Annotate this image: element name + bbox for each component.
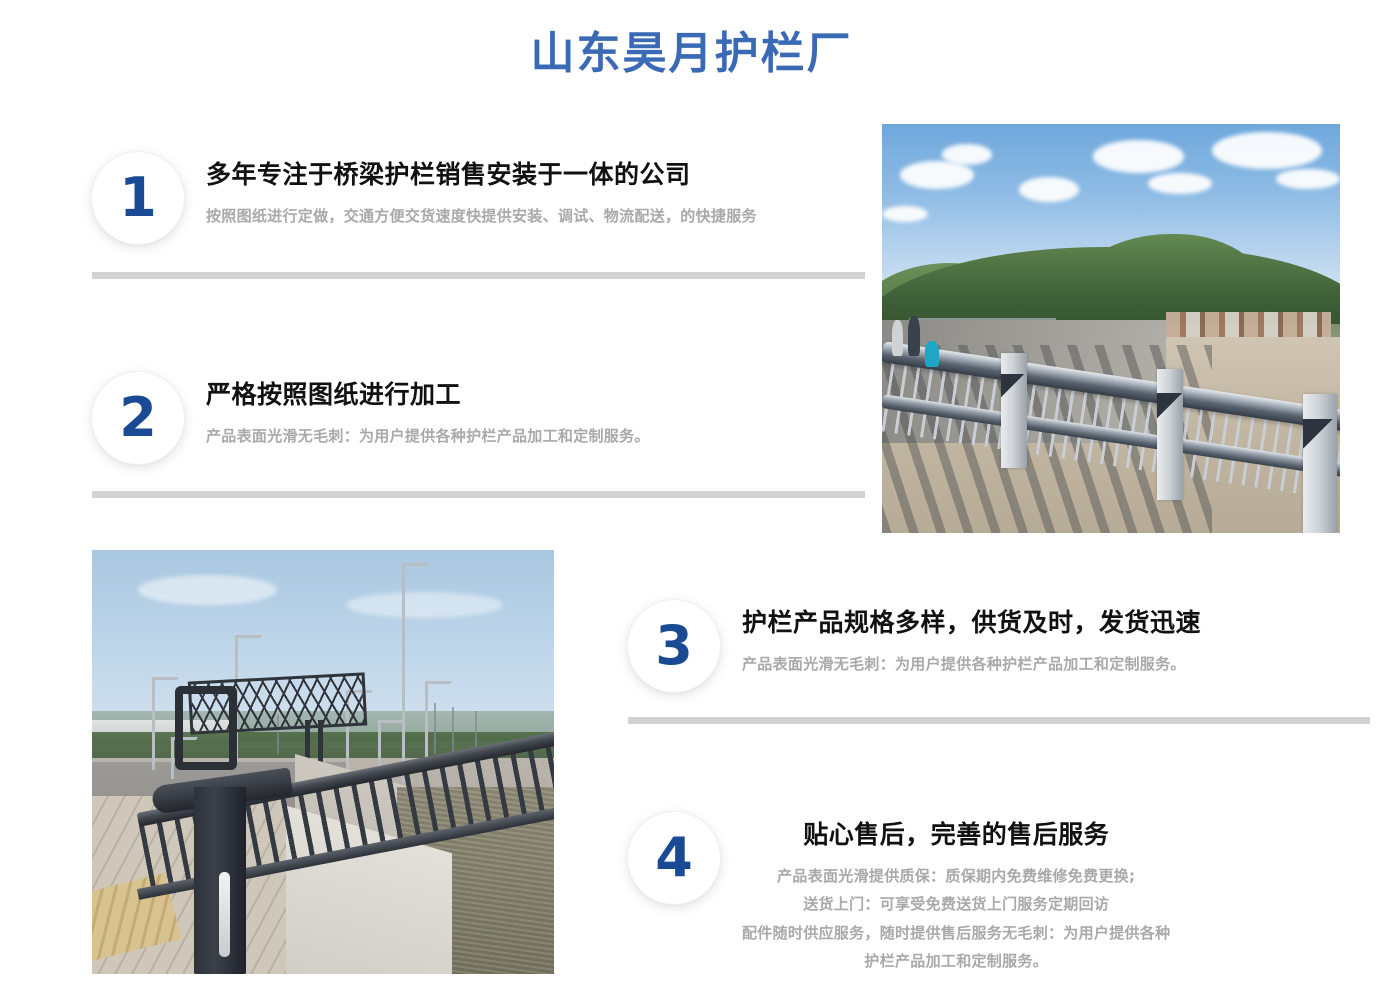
- feature-subtext-4-line-3: 配件随时供应服务，随时提供售后服务无毛刺：为用户提供各种: [742, 919, 1170, 948]
- feature-item-2: 2 严格按照图纸进行加工 产品表面光滑无毛刺：为用户提供各种护栏产品加工和定制服…: [92, 372, 650, 464]
- feature-number-2: 2: [119, 391, 157, 445]
- feature-text-1: 多年专注于桥梁护栏销售安装于一体的公司 按照图纸进行定做，交通方便交货速度快提供…: [206, 152, 757, 230]
- bridge-guardrail-river-photo: [882, 124, 1340, 533]
- feature-heading-4: 贴心售后，完善的售后服务: [742, 818, 1170, 852]
- photo1-worker: [892, 320, 903, 356]
- feature-heading-2: 严格按照图纸进行加工: [206, 378, 650, 412]
- photo1-railing-post: [1001, 353, 1027, 468]
- feature-heading-1: 多年专注于桥梁护栏销售安装于一体的公司: [206, 158, 757, 192]
- feature-text-3: 护栏产品规格多样，供货及时，发货迅速 产品表面光滑无毛刺：为用户提供各种护栏产品…: [742, 600, 1201, 678]
- feature-subtext-1-line-1: 按照图纸进行定做，交通方便交货速度快提供安装、调试、物流配送，的快捷服务: [206, 202, 757, 231]
- feature-subtext-4-line-4: 护栏产品加工和定制服务。: [742, 947, 1170, 976]
- photo2-cloud: [346, 592, 503, 617]
- photo2-post-reflector: [219, 872, 230, 957]
- feature-divider-1: [92, 272, 865, 279]
- feature-number-1: 1: [119, 171, 157, 225]
- feature-subtext-4-line-1: 产品表面光滑提供质保：质保期内免费维修免费更换;: [742, 862, 1170, 891]
- photo2-cloud: [138, 575, 277, 605]
- dark-guardrail-canal-photo: [92, 550, 554, 974]
- feature-number-3: 3: [655, 619, 693, 673]
- feature-number-badge-3: 3: [628, 600, 720, 692]
- feature-subtext-2-line-1: 产品表面光滑无毛刺：为用户提供各种护栏产品加工和定制服务。: [206, 422, 650, 451]
- photo2-power-pylon: [452, 707, 454, 754]
- feature-number-badge-4: 4: [628, 812, 720, 904]
- feature-number-4: 4: [655, 831, 693, 885]
- feature-item-4: 4 贴心售后，完善的售后服务 产品表面光滑提供质保：质保期内免费维修免费更换; …: [628, 812, 1170, 976]
- photo1-railing-post: [1303, 394, 1337, 533]
- photo2-street-light: [402, 563, 405, 783]
- photo1-cloud: [882, 206, 928, 222]
- photo1-worker: [908, 316, 920, 356]
- photo1-worker: [925, 341, 939, 367]
- feature-item-3: 3 护栏产品规格多样，供货及时，发货迅速 产品表面光滑无毛刺：为用户提供各种护栏…: [628, 600, 1201, 692]
- feature-heading-3: 护栏产品规格多样，供货及时，发货迅速: [742, 606, 1201, 640]
- feature-divider-3: [628, 717, 1370, 724]
- feature-divider-2: [92, 491, 865, 498]
- photo2-street-light: [171, 737, 174, 779]
- photo1-cloud: [1148, 173, 1212, 193]
- feature-text-4: 贴心售后，完善的售后服务 产品表面光滑提供质保：质保期内免费维修免费更换; 送货…: [742, 812, 1170, 976]
- photo1-cloud: [900, 161, 973, 190]
- photo2-power-pylon: [434, 703, 436, 754]
- feature-subtext-3-line-1: 产品表面光滑无毛刺：为用户提供各种护栏产品加工和定制服务。: [742, 650, 1201, 679]
- photo2-street-light: [152, 677, 155, 770]
- photo1-cloud: [1093, 140, 1185, 173]
- photo1-railing-post: [1157, 369, 1183, 500]
- photo1-cloud: [942, 144, 992, 164]
- feature-subtext-4-line-2: 送货上门：可享受免费送货上门服务定期回访: [742, 890, 1170, 919]
- photo1-cloud: [1212, 132, 1322, 169]
- photo1-cloud: [1019, 177, 1079, 202]
- feature-text-2: 严格按照图纸进行加工 产品表面光滑无毛刺：为用户提供各种护栏产品加工和定制服务。: [206, 372, 650, 450]
- photo2-gantry-frame: [175, 686, 237, 770]
- feature-number-badge-2: 2: [92, 372, 184, 464]
- feature-item-1: 1 多年专注于桥梁护栏销售安装于一体的公司 按照图纸进行定做，交通方便交货速度快…: [92, 152, 757, 244]
- page-title: 山东昊月护栏厂: [0, 28, 1383, 81]
- feature-number-badge-1: 1: [92, 152, 184, 244]
